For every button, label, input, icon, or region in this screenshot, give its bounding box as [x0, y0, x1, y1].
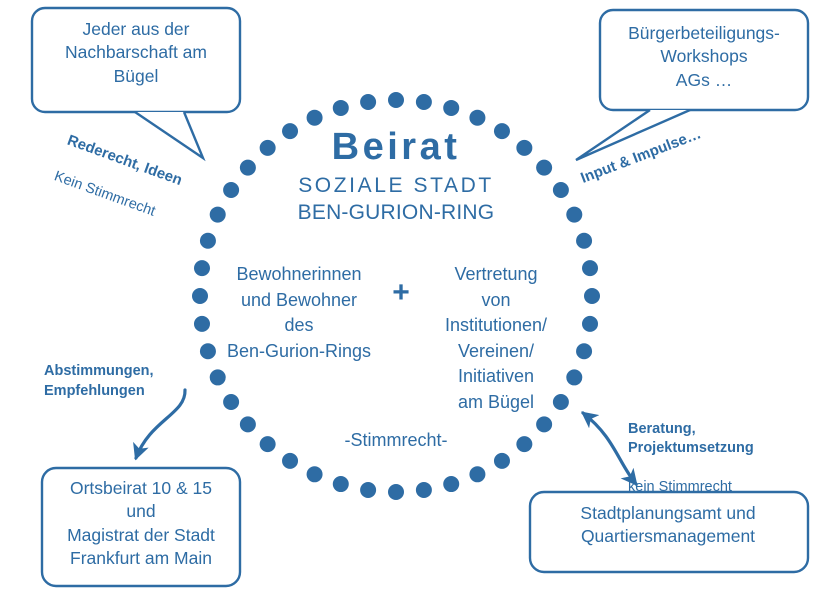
edge-label-rederecht: Rederecht, Ideen Kein Stimmrecht [45, 112, 247, 265]
ring-dot [443, 100, 459, 116]
ring-dot [576, 233, 592, 249]
edge-label-beratung-sub: kein Stimmrecht [628, 478, 798, 498]
edge-label-input-impulse: Input & Impulse… [578, 105, 753, 188]
ring-dot [443, 476, 459, 492]
bubble-top-left-label: Jeder aus der Nachbarschaft am Bügel [40, 18, 232, 88]
ring-dot [469, 110, 485, 126]
ring-dot [307, 110, 323, 126]
ring-dot [210, 369, 226, 385]
ring-dot [388, 92, 404, 108]
ring-dot [360, 482, 376, 498]
ring-dot [282, 453, 298, 469]
ring-dot [388, 484, 404, 500]
bubble-top-right-label: Bürgerbeteiligungs- Workshops AGs … [606, 22, 802, 92]
ring-dot [333, 476, 349, 492]
center-column-residents: Bewohnerinnen und Bewohner des Ben-Gurio… [206, 262, 392, 364]
ring-dot [516, 436, 532, 452]
ring-dot [469, 466, 485, 482]
box-bottom-left-label: Ortsbeirat 10 & 15 und Magistrat der Sta… [46, 477, 236, 570]
ring-dot [223, 394, 239, 410]
ring-dot [582, 260, 598, 276]
center-subtitle-location: BEN-GURION-RING [236, 201, 556, 224]
ring-dot [566, 207, 582, 223]
ring-dot [582, 316, 598, 332]
ring-dot [240, 416, 256, 432]
center-voting-right-note: -Stimmrecht- [306, 430, 486, 452]
ring-dot [576, 343, 592, 359]
center-subtitle-program: SOZIALE STADT [236, 174, 556, 197]
ring-dot [416, 482, 432, 498]
ring-dot [536, 416, 552, 432]
edge-label-beratung-bold: Beratung, Projektumsetzung [628, 420, 798, 459]
ring-dot [494, 453, 510, 469]
ring-dot [307, 466, 323, 482]
ring-dot [416, 94, 432, 110]
ring-dot [584, 288, 600, 304]
edge-label-abstimmungen: Abstimmungen, Empfehlungen [44, 362, 204, 401]
page-title: Beirat [236, 128, 556, 168]
ring-dot [260, 436, 276, 452]
diagram-canvas: Jeder aus der Nachbarschaft am Bügel Bür… [0, 0, 820, 600]
edge-label-beratung: Beratung, Projektumsetzung kein Stimmrec… [628, 400, 798, 517]
plus-icon: + [384, 278, 418, 308]
ring-dot [360, 94, 376, 110]
ring-dot [333, 100, 349, 116]
center-column-institutions: Vertretung von Institutionen/ Vereinen/ … [416, 262, 576, 415]
